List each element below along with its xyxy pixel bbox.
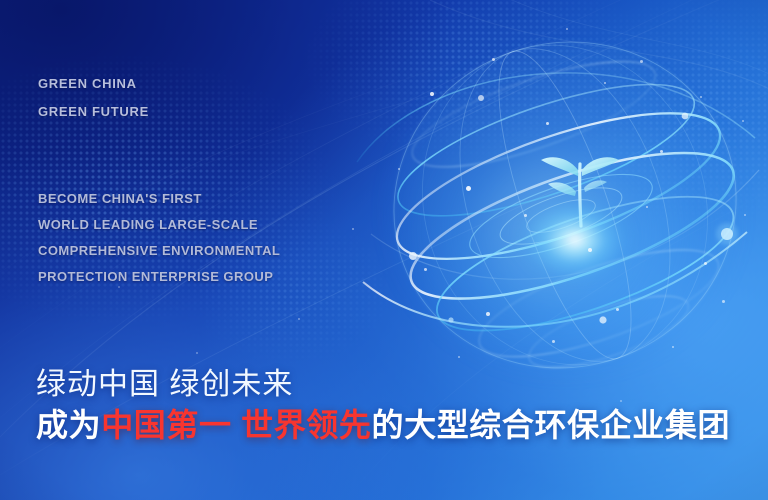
hero-banner: GREEN CHINA GREEN FUTURE BECOME CHINA'S … [0,0,768,500]
tagline-line-1: GREEN CHINA [38,70,149,98]
vision-line-3: COMPREHENSIVE ENVIRONMENTAL [38,238,280,264]
headline-line-2: 成为中国第一 世界领先的大型综合环保企业集团 [36,404,730,446]
vision-line-4: PROTECTION ENTERPRISE GROUP [38,264,280,290]
tagline-line-2: GREEN FUTURE [38,98,149,126]
headline-line-1: 绿动中国 绿创未来 [36,366,730,404]
vision-line-2: WORLD LEADING LARGE-SCALE [38,212,280,238]
headline-prefix: 成为 [36,407,101,443]
headline-highlight: 中国第一 世界领先 [101,407,371,443]
headline-suffix: 的大型综合环保企业集团 [372,407,731,443]
vision-statement-block: BECOME CHINA'S FIRST WORLD LEADING LARGE… [38,186,280,290]
vision-line-1: BECOME CHINA'S FIRST [38,186,280,212]
headline-block: 绿动中国 绿创未来 成为中国第一 世界领先的大型综合环保企业集团 [36,366,730,446]
tagline-block: GREEN CHINA GREEN FUTURE [38,70,149,126]
